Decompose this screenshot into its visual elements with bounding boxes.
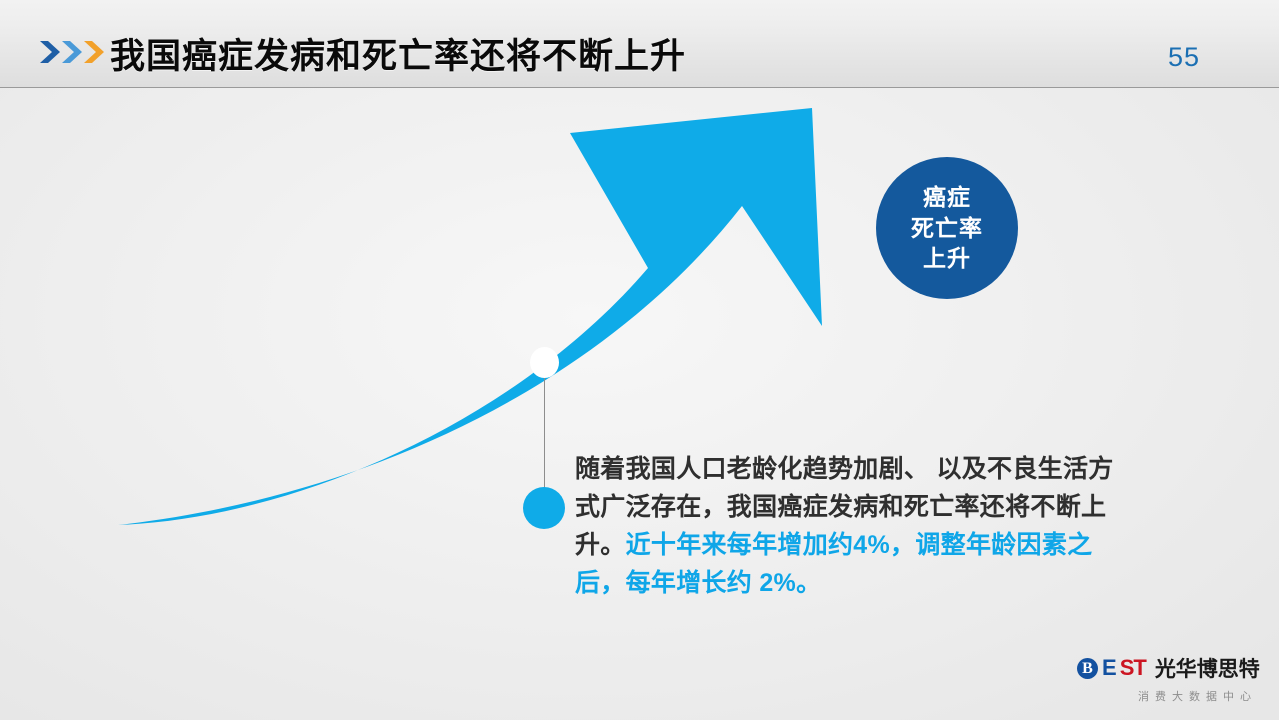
upward-trend-arrow: [0, 88, 1279, 720]
body-paragraph: 随着我国人口老龄化趋势加剧、 以及不良生活方式广泛存在，我国癌症发病和死亡率还将…: [575, 450, 1135, 602]
brand-logo: B E ST 光华博思特 消费大数据中心: [1077, 653, 1263, 704]
slide-canvas: 我国癌症发病和死亡率还将不断上升 55 癌症 死亡率 上升 随着我国人口老龄化趋…: [0, 0, 1279, 720]
logo-letter-e: E: [1102, 655, 1116, 681]
status-badge-cancer-mortality: 癌症 死亡率 上升: [876, 157, 1018, 299]
logo-company-name: 光华博思特: [1155, 653, 1260, 683]
callout-marker-white-dot: [530, 347, 559, 378]
page-number: 55: [1168, 42, 1200, 73]
page-title: 我国癌症发病和死亡率还将不断上升: [110, 28, 686, 79]
callout-marker-blue-dot: [523, 487, 565, 529]
logo-tagline: 消费大数据中心: [1077, 688, 1263, 704]
logo-letters-st: ST: [1120, 655, 1146, 681]
chevron-triple-icon: [38, 38, 110, 66]
badge-line-3: 上升: [923, 243, 971, 273]
badge-line-2: 死亡率: [911, 213, 983, 243]
brand-logo-wordmark: B E ST 光华博思特: [1077, 653, 1263, 683]
badge-line-1: 癌症: [923, 182, 971, 212]
logo-b-circle-icon: B: [1077, 658, 1098, 679]
slide-header: 我国癌症发病和死亡率还将不断上升 55: [0, 0, 1279, 88]
body-text-highlight: 近十年来每年增加约4%，调整年龄因素之后，每年增长约 2%。: [575, 531, 1092, 597]
